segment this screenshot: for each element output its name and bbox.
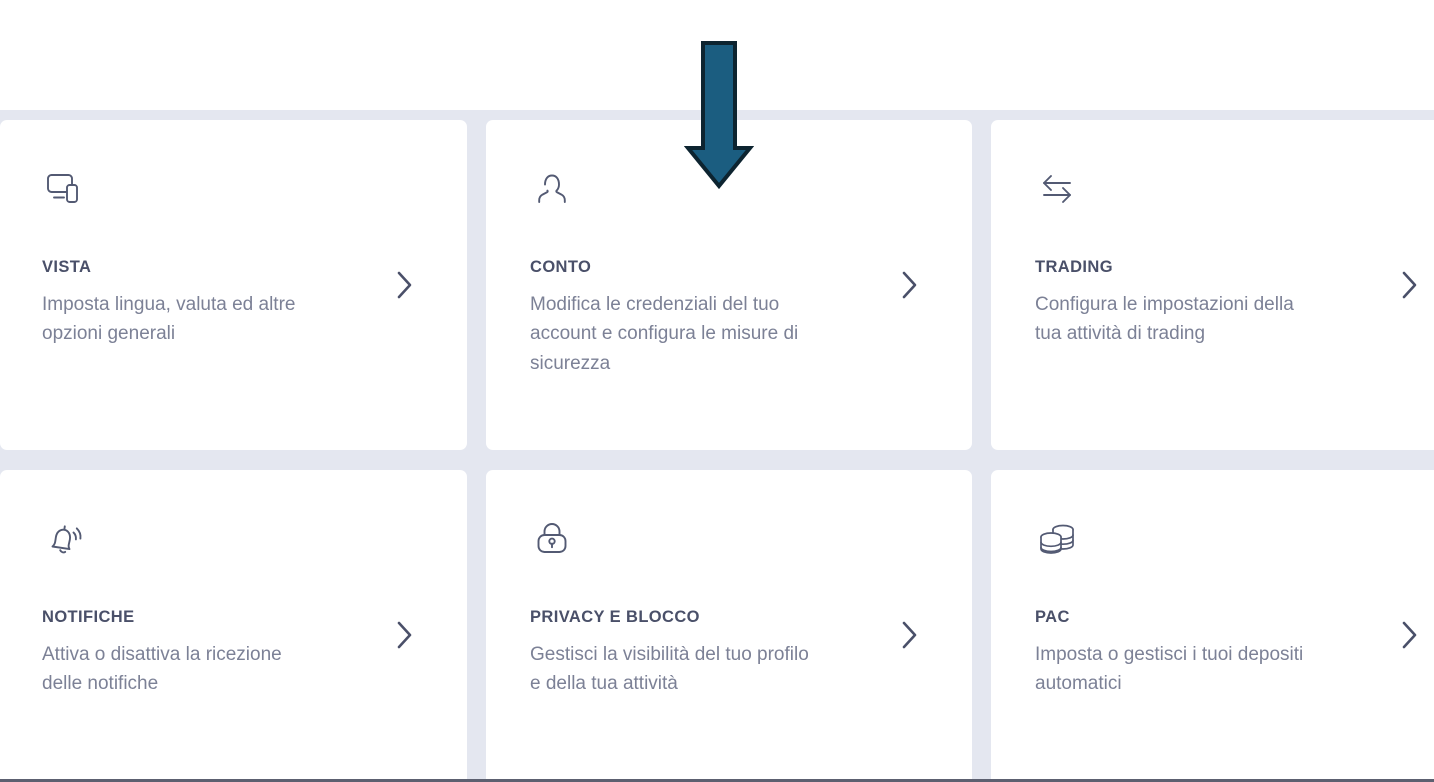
chevron-right-icon[interactable] <box>898 618 920 652</box>
card-description: Imposta o gestisci i tuoi depositi autom… <box>1035 640 1315 699</box>
settings-page: VISTA Imposta lingua, valuta ed altre op… <box>0 0 1434 782</box>
card-title: TRADING <box>1035 258 1434 276</box>
settings-card-trading[interactable]: TRADING Configura le impostazioni della … <box>991 120 1434 450</box>
padlock-icon <box>530 516 574 560</box>
settings-card-conto[interactable]: CONTO Modifica le credenziali del tuo ac… <box>486 120 972 450</box>
card-title: PAC <box>1035 608 1434 626</box>
settings-card-notifiche[interactable]: NOTIFICHE Attiva o disattiva la ricezion… <box>0 470 467 782</box>
chevron-right-icon[interactable] <box>1398 268 1420 302</box>
chevron-right-icon[interactable] <box>1398 618 1420 652</box>
devices-icon <box>42 166 86 210</box>
page-header-area <box>0 0 1434 110</box>
chevron-right-icon[interactable] <box>393 618 415 652</box>
exchange-arrows-icon <box>1035 166 1079 210</box>
settings-card-privacy-e-blocco[interactable]: PRIVACY E BLOCCO Gestisci la visibilità … <box>486 470 972 782</box>
settings-card-pac[interactable]: PAC Imposta o gestisci i tuoi depositi a… <box>991 470 1434 782</box>
card-description: Imposta lingua, valuta ed altre opzioni … <box>42 290 322 349</box>
chevron-right-icon[interactable] <box>898 268 920 302</box>
card-description: Gestisci la visibilità del tuo profilo e… <box>530 640 810 699</box>
settings-card-vista[interactable]: VISTA Imposta lingua, valuta ed altre op… <box>0 120 467 450</box>
settings-card-grid: VISTA Imposta lingua, valuta ed altre op… <box>0 110 1434 779</box>
chevron-right-icon[interactable] <box>393 268 415 302</box>
card-description: Modifica le credenziali del tuo account … <box>530 290 810 378</box>
user-icon <box>530 166 574 210</box>
card-description: Configura le impostazioni della tua atti… <box>1035 290 1315 349</box>
bell-ringing-icon <box>42 516 86 560</box>
card-description: Attiva o disattiva la ricezione delle no… <box>42 640 322 699</box>
coins-stack-icon <box>1035 516 1079 560</box>
